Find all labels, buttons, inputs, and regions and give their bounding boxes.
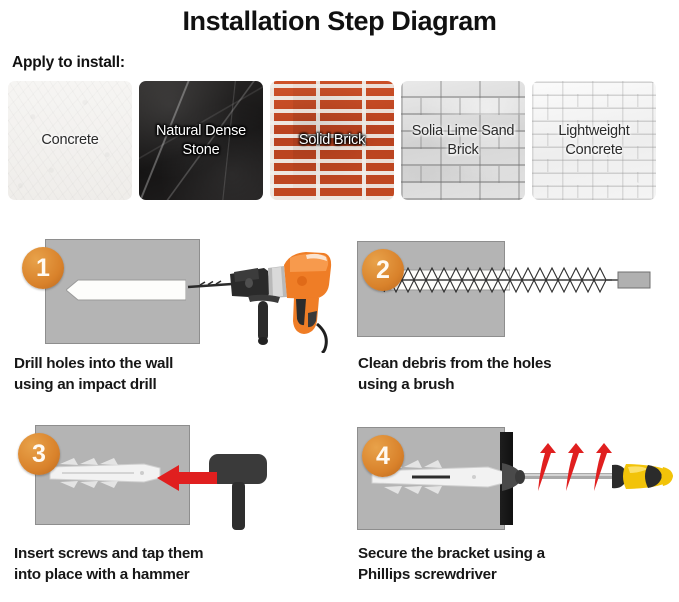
material-swatch-solia-lime-sand-brick: Solia Lime Sand Brick: [401, 81, 525, 200]
step-4: 4: [340, 417, 679, 602]
material-swatch-concrete: Concrete: [8, 81, 132, 200]
wall-anchor-plug-icon: [48, 455, 168, 491]
material-label-concrete: Concrete: [37, 131, 102, 150]
material-label-lightweight-concrete: Lightweight Concrete: [532, 122, 656, 160]
apply-to-install-label: Apply to install:: [12, 54, 679, 72]
material-label-natural-dense-stone: Natural Dense Stone: [139, 122, 263, 160]
step-1: 1: [0, 227, 339, 412]
step-number-badge: 4: [362, 435, 404, 477]
material-swatch-row: Concrete Natural Dense Stone Solid Brick…: [8, 81, 671, 200]
rotation-arrows-icon: [536, 437, 622, 507]
material-label-solid-brick: Solid Brick: [295, 131, 369, 150]
step-2: 2 Clean debris from the holes using a br…: [340, 227, 679, 412]
material-swatch-lightweight-concrete: Lightweight Concrete: [532, 81, 656, 200]
step-number-badge: 2: [362, 249, 404, 291]
step-number-badge: 1: [22, 247, 64, 289]
step-1-illustration: 1: [0, 227, 339, 349]
wire-brush-icon: [374, 263, 654, 297]
step-4-caption: Secure the bracket using a Phillips scre…: [358, 543, 545, 585]
drilled-hole: [66, 277, 186, 303]
step-2-caption: Clean debris from the holes using a brus…: [358, 353, 551, 395]
step-3-illustration: 3: [0, 417, 339, 539]
step-1-caption: Drill holes into the wall using an impac…: [14, 353, 173, 395]
step-2-illustration: 2: [340, 227, 679, 349]
step-4-illustration: 4: [340, 417, 679, 539]
step-3-caption: Insert screws and tap them into place wi…: [14, 543, 203, 585]
red-arrow-icon: [157, 462, 217, 494]
impact-drill-icon: [186, 241, 336, 353]
page-title: Installation Step Diagram: [0, 0, 679, 38]
material-swatch-natural-dense-stone: Natural Dense Stone: [139, 81, 263, 200]
step-number-badge: 3: [18, 433, 60, 475]
material-label-solia-lime-sand-brick: Solia Lime Sand Brick: [401, 122, 525, 160]
material-swatch-solid-brick: Solid Brick: [270, 81, 394, 200]
step-3: 3 Insert screws and tap them into place …: [0, 417, 339, 602]
